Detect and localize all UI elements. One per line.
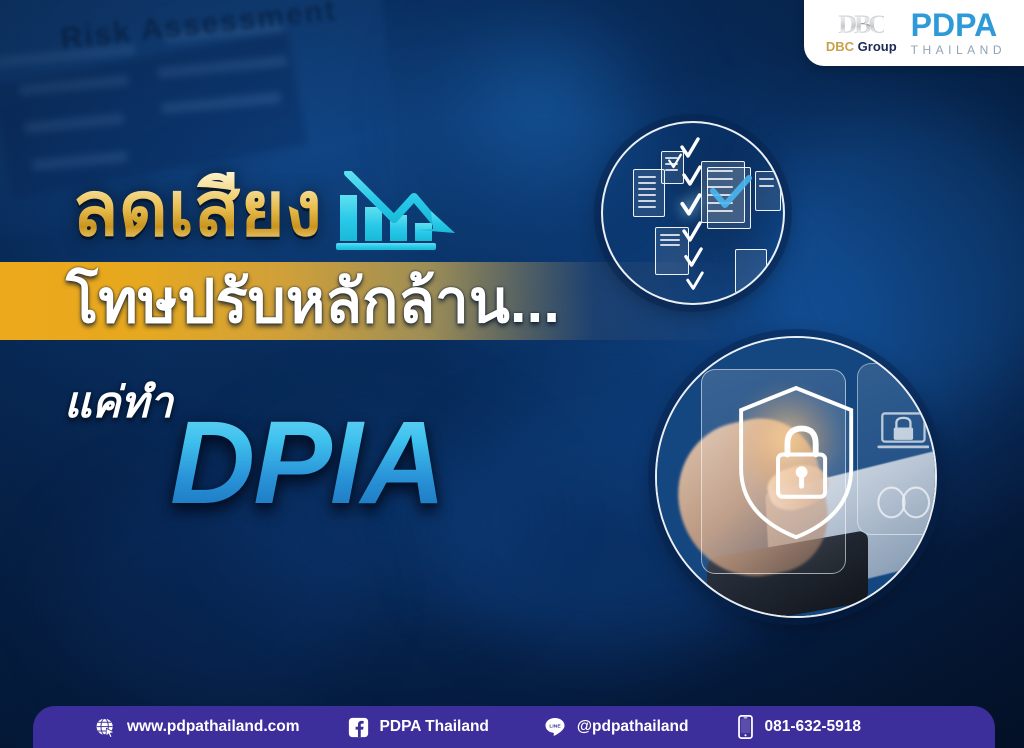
laptop-lock-icon [877, 405, 930, 461]
footer-line-label: @pdpathailand [577, 718, 689, 736]
pdpa-wordmark: PDPA [911, 9, 1006, 41]
checkmark-icon [683, 247, 704, 270]
footer-facebook-label: PDPA Thailand [380, 718, 489, 736]
footer-phone-label: 081-632-5918 [764, 718, 861, 736]
footer-contact-bar: www.pdpathailand.com PDPA Thailand LINE … [33, 706, 995, 748]
checkmark-icon [667, 153, 683, 171]
logo-badge[interactable]: DBC DBC Group PDPA THAILAND [804, 0, 1024, 66]
footer-line[interactable]: LINE @pdpathailand [544, 716, 689, 738]
headline-keyword-dpia: DPIA [170, 404, 444, 522]
padlock-icon [771, 421, 832, 504]
headline-line-1-group: ลดเสี่ยง [72, 163, 460, 257]
headline-line-3: แค่ทำ [64, 382, 173, 425]
dbc-group-wordmark: DBC Group [826, 40, 897, 53]
thailand-wordmark: THAILAND [911, 44, 1006, 56]
footer-phone[interactable]: 081-632-5918 [738, 715, 861, 739]
footer-website[interactable]: www.pdpathailand.com [95, 717, 300, 738]
footer-facebook[interactable]: PDPA Thailand [348, 717, 489, 738]
headline-line-2: โทษปรับหลักล้าน... [66, 272, 560, 332]
dbc-gold-text: DBC [826, 39, 854, 54]
dbc-group-text: Group [858, 39, 897, 54]
smartphone-icon [738, 715, 753, 739]
footer-website-label: www.pdpathailand.com [127, 718, 300, 736]
banner-canvas: Risk Assessment DBC DBC Group PDPA THAIL… [0, 0, 1024, 748]
dbc-monogram: DBC [838, 12, 884, 38]
line-icon: LINE [544, 716, 566, 738]
line-icon-text: LINE [549, 723, 561, 729]
facebook-icon [348, 717, 369, 738]
globe-cursor-icon [95, 717, 116, 738]
checkmark-icon [681, 221, 703, 245]
declining-chart-icon [332, 171, 460, 257]
headline-line-1: ลดเสี่ยง [72, 172, 322, 248]
document-sheet [735, 249, 767, 293]
checklist-circle-image [601, 121, 785, 305]
rings-icon [874, 483, 935, 522]
data-security-circle-image [655, 336, 937, 618]
checkmark-icon-large [709, 175, 753, 209]
document-sheet [755, 171, 781, 211]
checkmark-icon [685, 271, 705, 293]
checkmark-icon-highlighted [679, 193, 703, 219]
pdpa-thailand-logo: PDPA THAILAND [911, 9, 1006, 56]
dbc-group-logo: DBC DBC Group [826, 12, 897, 53]
checkmark-icon [681, 165, 703, 189]
